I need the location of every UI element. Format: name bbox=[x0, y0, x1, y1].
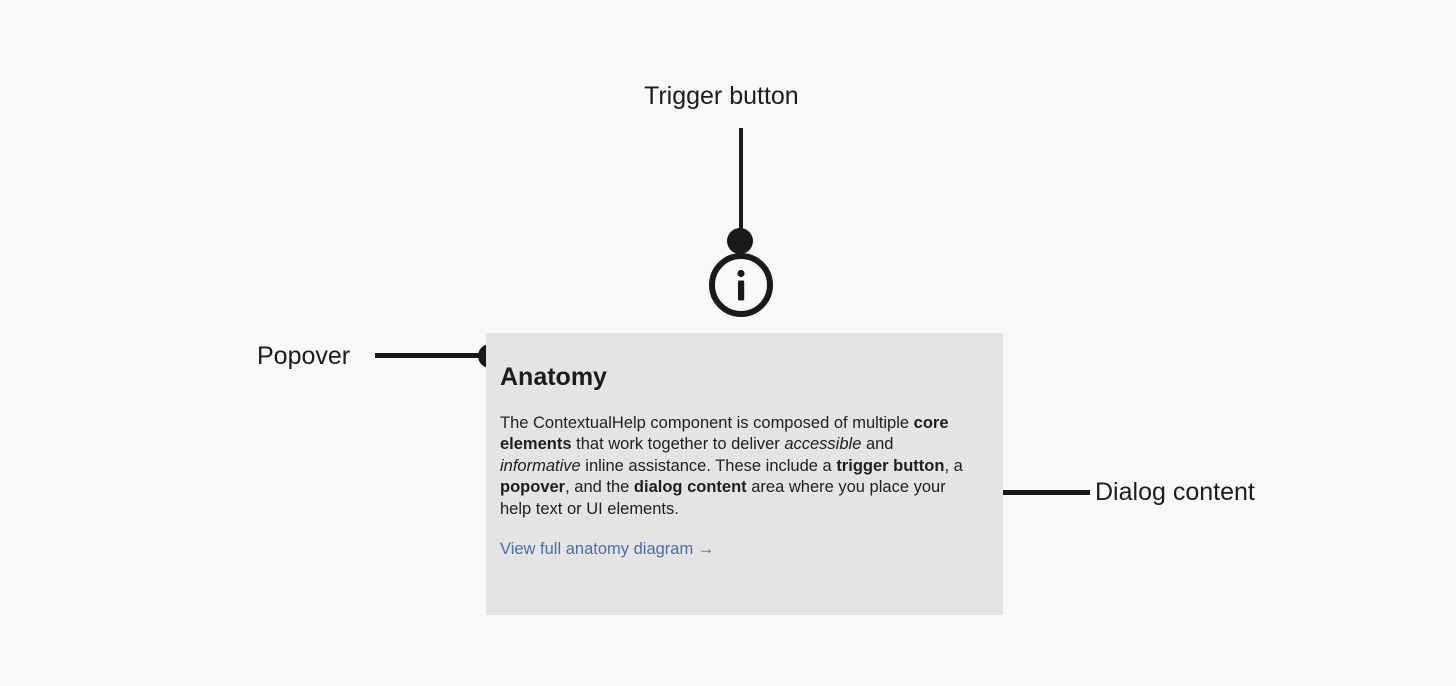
body-text-run: The ContextualHelp component is composed… bbox=[500, 414, 914, 432]
popover-panel: Anatomy The ContextualHelp component is … bbox=[486, 333, 1003, 615]
body-text-run: that work together to deliver bbox=[572, 435, 785, 453]
body-text-run: dialog content bbox=[634, 478, 747, 496]
leader-line-trigger-button bbox=[739, 128, 743, 240]
popover-body-text: The ContextualHelp component is composed… bbox=[500, 413, 975, 521]
popover-title: Anatomy bbox=[500, 364, 975, 392]
info-circle-icon[interactable] bbox=[708, 252, 774, 318]
body-text-run: and bbox=[861, 435, 893, 453]
callout-label-trigger-button: Trigger button bbox=[644, 84, 799, 109]
body-text-run: trigger button bbox=[836, 457, 944, 475]
body-text-run: , a bbox=[944, 457, 962, 475]
callout-label-dialog-content: Dialog content bbox=[1095, 480, 1255, 505]
arrow-right-icon: → bbox=[693, 540, 714, 558]
view-full-anatomy-diagram-link[interactable]: View full anatomy diagram → bbox=[500, 540, 714, 560]
body-text-run: informative bbox=[500, 457, 581, 475]
body-text-run: accessible bbox=[784, 435, 861, 453]
leader-line-popover bbox=[375, 353, 487, 358]
body-text-run: , and the bbox=[565, 478, 634, 496]
body-text-run: inline assistance. These include a bbox=[581, 457, 837, 475]
leader-dot-trigger-button bbox=[727, 228, 753, 254]
anatomy-diagram: Trigger button Popover Dialog content An… bbox=[0, 0, 1456, 686]
callout-label-popover: Popover bbox=[257, 344, 350, 369]
body-text-run: popover bbox=[500, 478, 565, 496]
link-label: View full anatomy diagram bbox=[500, 540, 693, 558]
